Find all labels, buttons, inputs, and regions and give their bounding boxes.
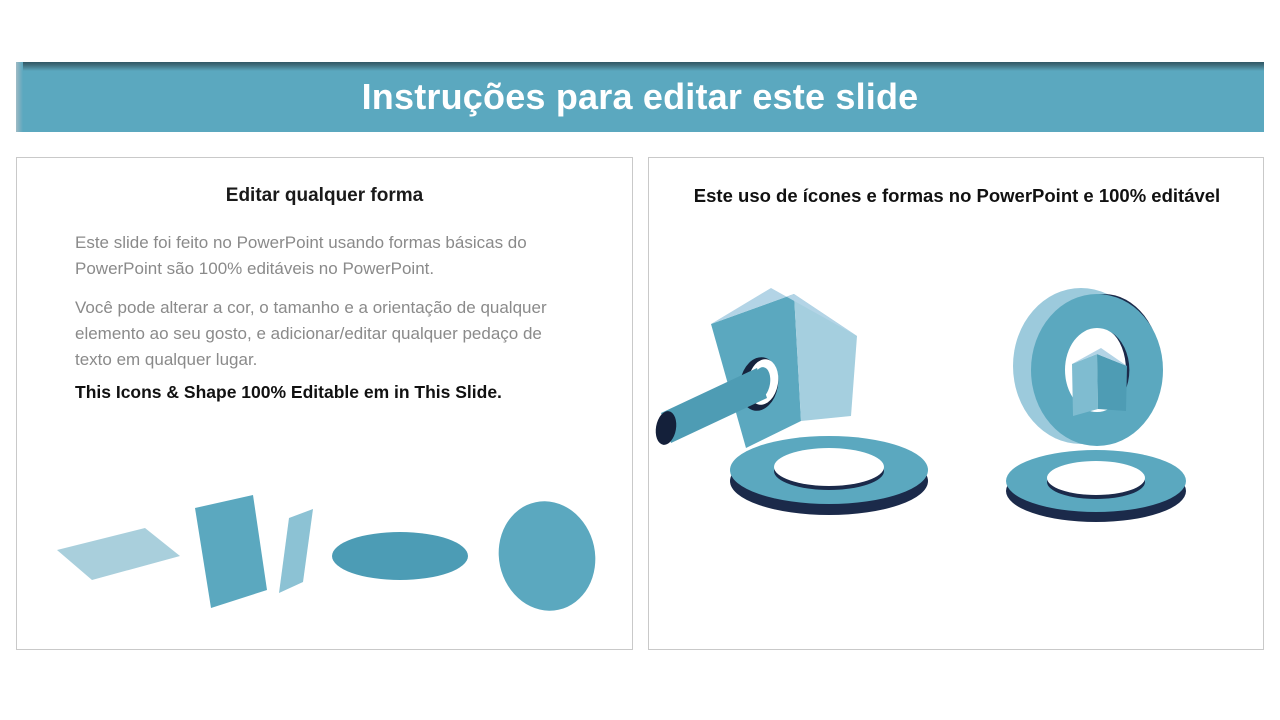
editable-note: This Icons & Shape 100% Editable em in T…	[75, 380, 595, 404]
right-illustration-panel: Este uso de ícones e formas no PowerPoin…	[648, 157, 1264, 650]
ring-base-hole-floor	[1047, 461, 1145, 495]
narrow-parallelogram-shape	[279, 509, 313, 593]
slide-title-banner: Instruções para editar este slide	[16, 62, 1264, 132]
inner-cube-left-face	[1072, 354, 1098, 416]
right-panel-heading: Este uso de ícones e formas no PowerPoin…	[691, 182, 1223, 210]
tilted-parallelogram-shape	[195, 495, 267, 608]
body-paragraph-1: Este slide foi feito no PowerPoint usand…	[75, 230, 575, 282]
flat-parallelogram-shape	[57, 528, 180, 580]
torus-base-hole-floor	[774, 448, 884, 486]
oval-shape	[489, 492, 606, 620]
3d-illustrations	[649, 288, 1263, 638]
cube-right-face	[794, 294, 857, 421]
left-panel-body: Este slide foi feito no PowerPoint usand…	[75, 230, 575, 386]
ellipse-shape	[332, 532, 468, 580]
page-title: Instruções para editar este slide	[16, 62, 1264, 132]
body-paragraph-2: Você pode alterar a cor, o tamanho e a o…	[75, 295, 575, 373]
basic-shapes-row	[17, 488, 632, 628]
cube-on-torus-illustration	[653, 288, 928, 515]
left-content-panel: Editar qualquer forma Este slide foi fei…	[16, 157, 633, 650]
left-panel-heading: Editar qualquer forma	[17, 185, 632, 207]
vertical-torus-illustration	[1006, 288, 1186, 522]
